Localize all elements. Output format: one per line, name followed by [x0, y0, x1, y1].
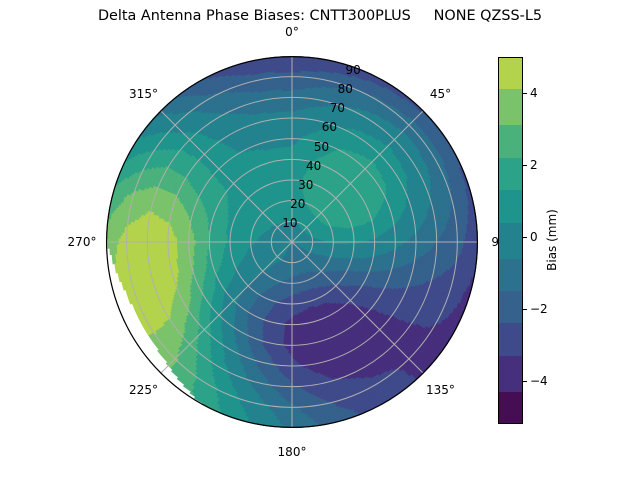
colorbar-band [498, 158, 523, 190]
polar-contour-svg [106, 56, 478, 428]
colorbar-band [498, 223, 523, 259]
radial-tick-label: 50 [314, 140, 329, 154]
colorbar-band [498, 291, 523, 323]
colorbar-tick-label: −4 [530, 374, 548, 388]
angular-tick-label: 270° [68, 235, 97, 249]
colorbar-band [498, 259, 523, 291]
figure-canvas: Delta Antenna Phase Biases: CNTT300PLUS … [0, 0, 640, 480]
radial-tick-label: 90 [346, 63, 361, 77]
angular-tick-label: 225° [129, 383, 158, 397]
colorbar-axis-label: Bias (mm) [545, 209, 559, 271]
colorbar-tick [523, 93, 527, 94]
angular-tick-label: 135° [426, 383, 455, 397]
colorbar-tick-label: 0 [530, 230, 538, 244]
colorbar-tick-label: 2 [530, 158, 538, 172]
colorbar[interactable]: 420−2−4 [498, 57, 523, 424]
colorbar-tick [523, 309, 527, 310]
colorbar-band [498, 392, 523, 424]
radial-tick-label: 40 [306, 159, 321, 173]
colorbar-band [498, 323, 523, 355]
colorbar-tick [523, 237, 527, 238]
radial-tick-label: 70 [330, 101, 345, 115]
radial-tick-label: 10 [282, 216, 297, 230]
colorbar-band [498, 356, 523, 392]
radial-tick-label: 60 [322, 120, 337, 134]
polar-grid-layer [106, 56, 478, 428]
colorbar-band [498, 125, 523, 157]
radial-tick-label: 20 [290, 197, 305, 211]
page-title: Delta Antenna Phase Biases: CNTT300PLUS … [0, 8, 640, 24]
polar-plot-axes[interactable]: 0°45°90°135°180°225°270°315° 10203040506… [106, 56, 478, 428]
angular-tick-label: 0° [285, 25, 299, 39]
radial-tick-label: 30 [298, 178, 313, 192]
colorbar-tick-label: 4 [530, 86, 538, 100]
angular-tick-label: 180° [278, 445, 307, 459]
radial-tick-label: 80 [338, 82, 353, 96]
angular-tick-label: 45° [430, 87, 451, 101]
colorbar-tick-label: −2 [530, 302, 548, 316]
colorbar-tick [523, 165, 527, 166]
colorbar-gradient [498, 57, 523, 424]
angular-tick-label: 315° [129, 87, 158, 101]
colorbar-band [498, 57, 523, 89]
colorbar-tick [523, 381, 527, 382]
colorbar-band [498, 89, 523, 125]
colorbar-band [498, 190, 523, 222]
